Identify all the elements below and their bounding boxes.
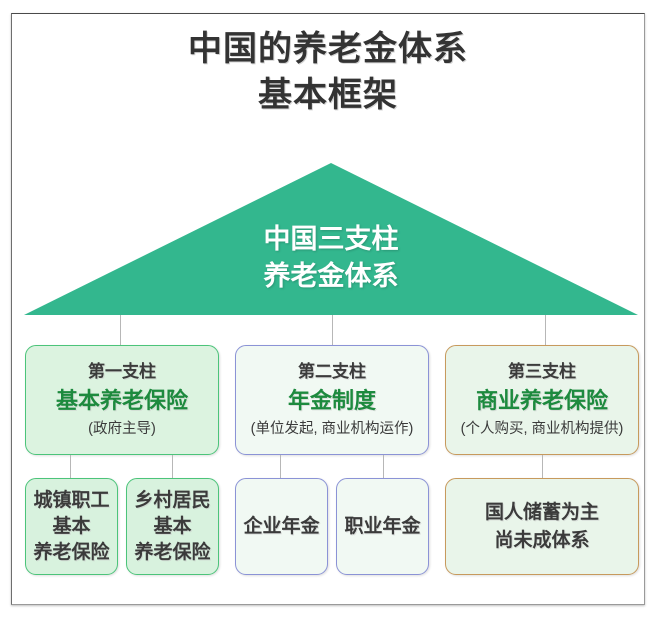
- pillar-1-child-2-line-2: 基本: [153, 514, 191, 540]
- pillar-1-child-2-box[interactable]: 乡村居民 基本 养老保险: [126, 478, 219, 575]
- pillar-2-child-2-line-1: 职业年金: [344, 514, 420, 540]
- pillar-2-box[interactable]: 第二支柱 年金制度 (单位发起, 商业机构运作): [235, 345, 429, 455]
- connector-pillar-2-to-child-2: [383, 455, 384, 478]
- pillar-2-note: (单位发起, 商业机构运作): [251, 417, 414, 441]
- pillar-1-child-1-line-3: 养老保险: [33, 540, 109, 566]
- pillar-2-name: 年金制度: [288, 385, 376, 417]
- pillar-3-box[interactable]: 第三支柱 商业养老保险 (个人购买, 商业机构提供): [445, 345, 639, 455]
- pillar-1-child-1-box[interactable]: 城镇职工 基本 养老保险: [25, 478, 118, 575]
- connector-apex-to-pillar-3: [545, 315, 546, 345]
- pillar-1-child-2-line-1: 乡村居民: [134, 488, 210, 514]
- connector-pillar-1-to-child-2: [172, 455, 173, 478]
- triangle-shape-icon: [24, 163, 638, 315]
- page-title-line-1: 中国的养老金体系: [20, 26, 636, 72]
- pillar-1-name: 基本养老保险: [56, 385, 188, 417]
- connector-pillar-2-to-child-1: [280, 455, 281, 478]
- pillar-1-note: (政府主导): [88, 417, 156, 441]
- connector-pillar-1-to-child-1: [70, 455, 71, 478]
- page-title-line-2: 基本框架: [20, 72, 636, 118]
- pillar-3-child-1-line-1: 国人储蓄为主: [485, 499, 599, 527]
- pillar-2-child-1-box[interactable]: 企业年金: [235, 478, 328, 575]
- pillar-1-title: 第一支柱: [88, 359, 156, 385]
- pillar-2-child-1-line-1: 企业年金: [243, 514, 319, 540]
- pillar-3-name: 商业养老保险: [476, 385, 608, 417]
- pillar-2-child-2-box[interactable]: 职业年金: [336, 478, 429, 575]
- connector-apex-to-pillar-1: [120, 315, 121, 345]
- pillar-3-note: (个人购买, 商业机构提供): [461, 417, 624, 441]
- pillar-1-child-1-line-1: 城镇职工: [33, 488, 109, 514]
- connector-apex-to-pillar-2: [332, 315, 333, 345]
- page-title: 中国的养老金体系 基本框架: [20, 26, 636, 118]
- pillar-3-child-1-box[interactable]: 国人储蓄为主 尚未成体系: [445, 478, 639, 575]
- pillar-3-child-1-line-2: 尚未成体系: [494, 527, 589, 555]
- pillar-1-child-2-line-3: 养老保险: [134, 540, 210, 566]
- diagram-canvas: 中国的养老金体系 基本框架 中国三支柱 养老金体系 第一支柱 基本养老保险 (政…: [0, 0, 666, 621]
- connector-pillar-3-to-child-1: [542, 455, 543, 478]
- pillar-1-box[interactable]: 第一支柱 基本养老保险 (政府主导): [25, 345, 219, 455]
- apex-triangle: 中国三支柱 养老金体系: [24, 163, 638, 315]
- pillar-1-child-1-line-2: 基本: [52, 514, 90, 540]
- pillar-2-title: 第二支柱: [298, 359, 366, 385]
- pillar-3-title: 第三支柱: [508, 359, 576, 385]
